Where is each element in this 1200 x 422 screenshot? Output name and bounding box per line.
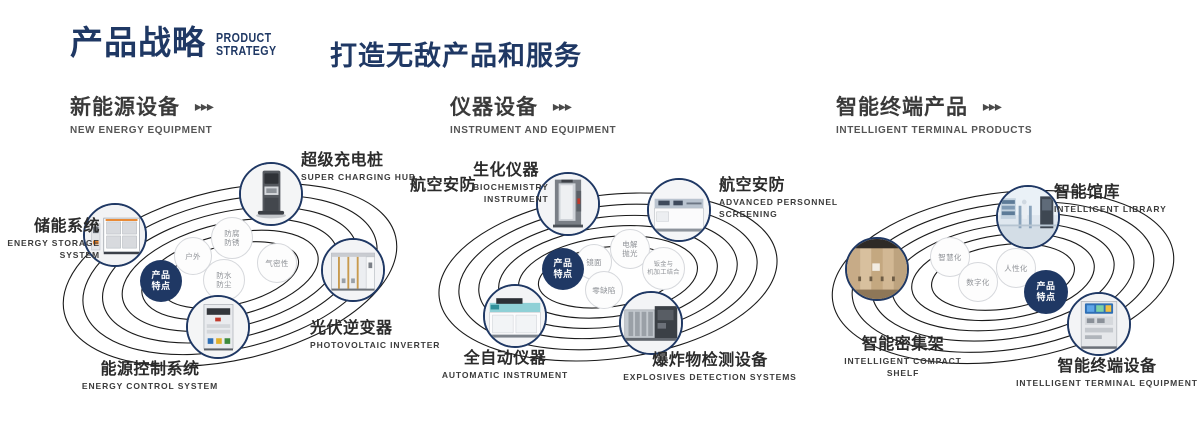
node-photovoltaic-inverter[interactable] bbox=[321, 238, 385, 302]
section-heading-cn-text: 新能源设备 bbox=[70, 96, 180, 119]
feature-line-2: 防锈 bbox=[224, 238, 240, 247]
screening-photo bbox=[649, 180, 709, 240]
chevron-right-icon: ▸▸▸ bbox=[983, 99, 1001, 114]
label-cn: 智能终端设备 bbox=[1014, 358, 1200, 376]
node-energy-control-system[interactable] bbox=[186, 295, 250, 359]
page-title-en: PRODUCT STRATEGY bbox=[216, 31, 277, 57]
page-title-en-line2: STRATEGY bbox=[216, 44, 277, 57]
feature-bubble-label: 数字化 bbox=[966, 278, 989, 287]
label-en-line1: BIOCHEMISTRY bbox=[473, 182, 549, 193]
label-en-line2: SHELF bbox=[818, 368, 988, 379]
label-energy-storage-system: 储能系统 ENERGY STORAGE SYSTEM bbox=[0, 218, 100, 261]
slide-canvas: 产品战略 PRODUCT STRATEGY 打造无敌产品和服务 新能源设备 ▸▸… bbox=[0, 0, 1200, 422]
page-title: 产品战略 PRODUCT STRATEGY bbox=[70, 26, 290, 59]
label-intelligent-terminal-equipment: 智能终端设备 INTELLIGENT TERMINAL EQUIPMENT bbox=[1014, 358, 1200, 390]
feature-bubble-label: 气密性 bbox=[265, 259, 288, 268]
explosives-detection-photo bbox=[621, 293, 681, 353]
feature-line-1: 电解 bbox=[622, 240, 638, 249]
core-bubble-label: 产品 特点 bbox=[553, 258, 572, 280]
core-bubble-product-features: 产品 特点 bbox=[542, 248, 584, 290]
page-title-cn: 产品战略 bbox=[70, 26, 206, 59]
label-intelligent-library: 智能馆库 INTELLIGENT LIBRARY bbox=[1054, 184, 1167, 216]
feature-line-1: 防腐 bbox=[224, 229, 240, 238]
feature-bubble-label: 钣金与 机加工结合 bbox=[647, 261, 679, 277]
section-heading-cn: 智能终端产品 ▸▸▸ bbox=[836, 96, 1032, 119]
label-en-line1: INTELLIGENT COMPACT bbox=[818, 356, 988, 367]
label-cn: 航空安防 bbox=[410, 177, 476, 195]
feature-line-2: 防尘 bbox=[216, 280, 232, 289]
label-en-line1: INTELLIGENT LIBRARY bbox=[1054, 204, 1167, 215]
label-cn: 生化仪器 bbox=[473, 162, 549, 180]
node-explosives-detection-systems[interactable] bbox=[619, 291, 683, 355]
page-subtitle: 打造无敌产品和服务 bbox=[330, 34, 582, 73]
label-en-line1: PHOTOVOLTAIC INVERTER bbox=[310, 340, 440, 351]
feature-bubble: 钣金与 机加工结合 bbox=[642, 247, 685, 290]
feature-bubble-label: 防腐 防锈 bbox=[224, 229, 240, 247]
terminal-equipment-photo bbox=[1069, 294, 1129, 354]
core-line-2: 特点 bbox=[1036, 292, 1055, 302]
section-heading-cn-text: 智能终端产品 bbox=[836, 96, 968, 119]
label-aviation-security-left: 航空安防 bbox=[410, 177, 476, 195]
feature-bubble-label: 镜面 bbox=[586, 258, 602, 267]
label-en-line1: AUTOMATIC INSTRUMENT bbox=[425, 370, 585, 381]
automatic-instrument-photo bbox=[485, 286, 545, 346]
label-photovoltaic-inverter: 光伏逆变器 PHOTOVOLTAIC INVERTER bbox=[310, 320, 440, 352]
node-super-charging-hub[interactable] bbox=[239, 162, 303, 226]
label-cn: 光伏逆变器 bbox=[310, 320, 440, 338]
node-automatic-instrument[interactable] bbox=[483, 284, 547, 348]
compact-shelf-photo bbox=[847, 239, 907, 299]
chevron-right-icon: ▸▸▸ bbox=[553, 99, 571, 114]
core-line-2: 特点 bbox=[151, 281, 170, 291]
feature-bubble-label: 电解 抛光 bbox=[622, 240, 638, 258]
feature-bubble-label: 户外 bbox=[185, 252, 201, 261]
core-bubble-label: 产品 特点 bbox=[151, 270, 170, 292]
charging-hub-photo bbox=[241, 164, 301, 224]
section-heading-cn: 新能源设备 ▸▸▸ bbox=[70, 96, 213, 119]
core-bubble-label: 产品 特点 bbox=[1036, 281, 1055, 303]
feature-bubble: 气密性 bbox=[257, 243, 297, 283]
core-line-1: 产品 bbox=[1036, 281, 1055, 291]
section-heading-cn: 仪器设备 ▸▸▸ bbox=[450, 96, 616, 119]
label-en-line1: EXPLOSIVES DETECTION SYSTEMS bbox=[620, 372, 800, 383]
node-intelligent-terminal-equipment[interactable] bbox=[1067, 292, 1131, 356]
label-cn: 智能馆库 bbox=[1054, 184, 1167, 202]
section-heading-en: NEW ENERGY EQUIPMENT bbox=[70, 125, 213, 136]
node-intelligent-compact-shelf[interactable] bbox=[845, 237, 909, 301]
label-cn: 能源控制系统 bbox=[70, 361, 230, 379]
section-heading-intelligent-terminal: 智能终端产品 ▸▸▸ INTELLIGENT TERMINAL PRODUCTS bbox=[836, 96, 1032, 136]
feature-bubble-label: 智慧化 bbox=[938, 253, 961, 262]
feature-bubble-label: 零缺陷 bbox=[592, 286, 615, 295]
feature-bubble: 数字化 bbox=[958, 262, 998, 302]
label-super-charging-hub: 超级充电桩 SUPER CHARGING HUB bbox=[301, 152, 416, 184]
feature-line-2: 抛光 bbox=[622, 249, 638, 258]
core-line-2: 特点 bbox=[553, 269, 572, 279]
feature-bubble-label: 防水 防尘 bbox=[216, 271, 232, 289]
label-en-line2: SYSTEM bbox=[0, 250, 100, 261]
label-intelligent-compact-shelf: 智能密集架 INTELLIGENT COMPACT SHELF bbox=[818, 336, 988, 379]
label-cn: 智能密集架 bbox=[818, 336, 988, 354]
section-heading-new-energy: 新能源设备 ▸▸▸ NEW ENERGY EQUIPMENT bbox=[70, 96, 213, 136]
section-heading-en: INTELLIGENT TERMINAL PRODUCTS bbox=[836, 125, 1032, 136]
label-cn: 储能系统 bbox=[0, 218, 100, 236]
label-en-line2: INSTRUMENT bbox=[473, 194, 549, 205]
feature-bubble: 零缺陷 bbox=[585, 271, 623, 309]
control-system-photo bbox=[188, 297, 248, 357]
feature-line-2: 机加工结合 bbox=[647, 269, 679, 276]
core-bubble-product-features: 产品 特点 bbox=[1024, 270, 1068, 314]
intelligent-library-photo bbox=[998, 187, 1058, 247]
label-energy-control-system: 能源控制系统 ENERGY CONTROL SYSTEM bbox=[70, 361, 230, 393]
feature-bubble-label: 人性化 bbox=[1004, 264, 1027, 273]
core-line-1: 产品 bbox=[553, 258, 572, 268]
label-cn: 全自动仪器 bbox=[425, 350, 585, 368]
label-en-line1: INTELLIGENT TERMINAL EQUIPMENT bbox=[1014, 378, 1200, 389]
label-en-line1: SUPER CHARGING HUB bbox=[301, 172, 416, 183]
label-biochemistry-instrument: 生化仪器 BIOCHEMISTRY INSTRUMENT bbox=[473, 162, 549, 205]
node-advanced-personnel-screening[interactable] bbox=[647, 178, 711, 242]
section-heading-instrument: 仪器设备 ▸▸▸ INSTRUMENT AND EQUIPMENT bbox=[450, 96, 616, 136]
core-bubble-product-features: 产品 特点 bbox=[140, 260, 182, 302]
inverter-photo bbox=[323, 240, 383, 300]
chevron-right-icon: ▸▸▸ bbox=[195, 99, 213, 114]
cluster-new-energy: 户外 防腐 防锈 气密性 防水 防尘 产品 特点 bbox=[45, 155, 415, 395]
feature-line-1: 防水 bbox=[216, 271, 232, 280]
label-explosives-detection-systems: 爆炸物检测设备 EXPLOSIVES DETECTION SYSTEMS bbox=[620, 352, 800, 384]
node-intelligent-library[interactable] bbox=[996, 185, 1060, 249]
feature-line-1: 钣金与 bbox=[654, 261, 673, 268]
label-cn: 超级充电桩 bbox=[301, 152, 416, 170]
section-heading-cn-text: 仪器设备 bbox=[450, 96, 538, 119]
label-en-line1: ENERGY CONTROL SYSTEM bbox=[70, 381, 230, 392]
section-heading-en: INSTRUMENT AND EQUIPMENT bbox=[450, 125, 616, 136]
label-cn: 爆炸物检测设备 bbox=[620, 352, 800, 370]
label-en-line1: ENERGY STORAGE bbox=[0, 238, 100, 249]
label-automatic-instrument: 全自动仪器 AUTOMATIC INSTRUMENT bbox=[425, 350, 585, 382]
core-line-1: 产品 bbox=[151, 270, 170, 280]
